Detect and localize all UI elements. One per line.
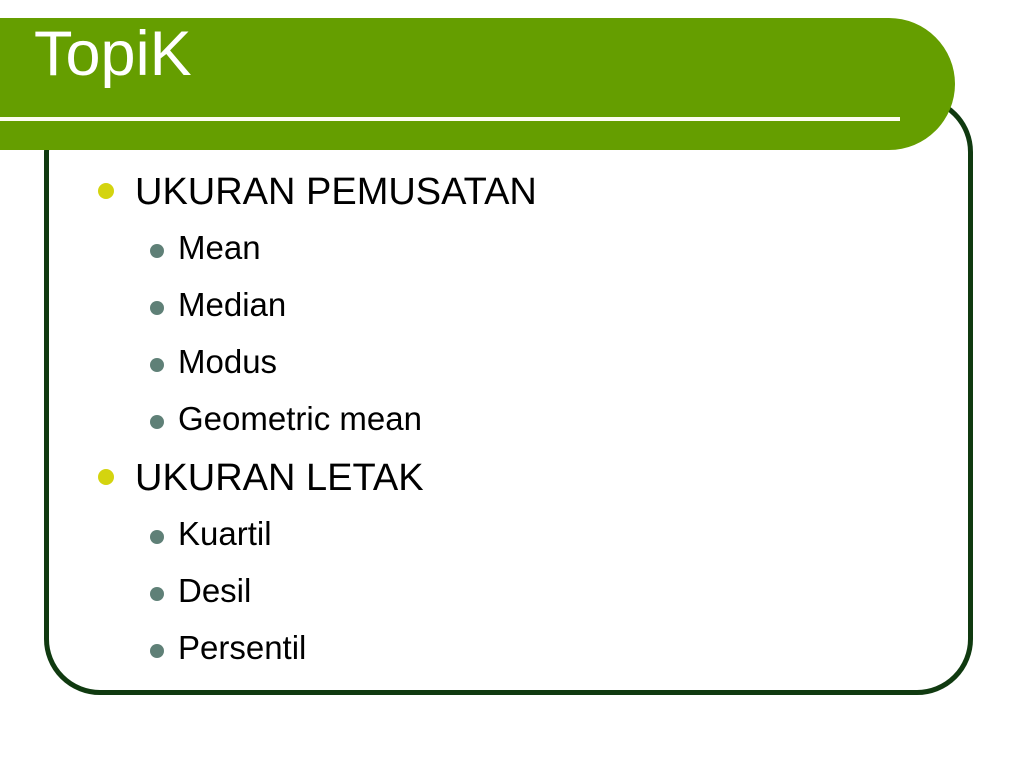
filled-circle-bullet-green-icon [150,244,164,258]
list-item: Median [0,285,1024,342]
filled-circle-bullet-green-icon [150,358,164,372]
filled-circle-bullet-green-icon [150,587,164,601]
list-item: Mean [0,228,1024,285]
title-divider-rule [0,117,900,121]
list-item: Modus [0,342,1024,399]
list-item: Geometric mean [0,399,1024,456]
list-item: Kuartil [0,514,1024,571]
list-item: UKURAN LETAK [0,456,1024,514]
list-item: Persentil [0,628,1024,685]
bullet-list: UKURAN PEMUSATAN Mean Median Modus Geome… [0,170,1024,685]
filled-circle-bullet-green-icon [150,644,164,658]
filled-circle-bullet-yellow-icon [98,469,114,485]
list-item-label: Mean [178,228,261,268]
filled-circle-bullet-green-icon [150,301,164,315]
slide-title: TopiK [34,23,192,86]
filled-circle-bullet-green-icon [150,415,164,429]
list-item-label: Geometric mean [178,399,422,439]
list-item: Desil [0,571,1024,628]
list-item-label: Persentil [178,628,306,668]
filled-circle-bullet-yellow-icon [98,183,114,199]
list-item-label: Desil [178,571,251,611]
filled-circle-bullet-green-icon [150,530,164,544]
list-item-label: UKURAN PEMUSATAN [135,170,537,214]
list-item-label: Kuartil [178,514,272,554]
list-item-label: UKURAN LETAK [135,456,424,500]
presentation-slide: TopiK UKURAN PEMUSATAN Mean Median Modus… [0,0,1024,768]
list-item-label: Modus [178,342,277,382]
list-item: UKURAN PEMUSATAN [0,170,1024,228]
list-item-label: Median [178,285,286,325]
